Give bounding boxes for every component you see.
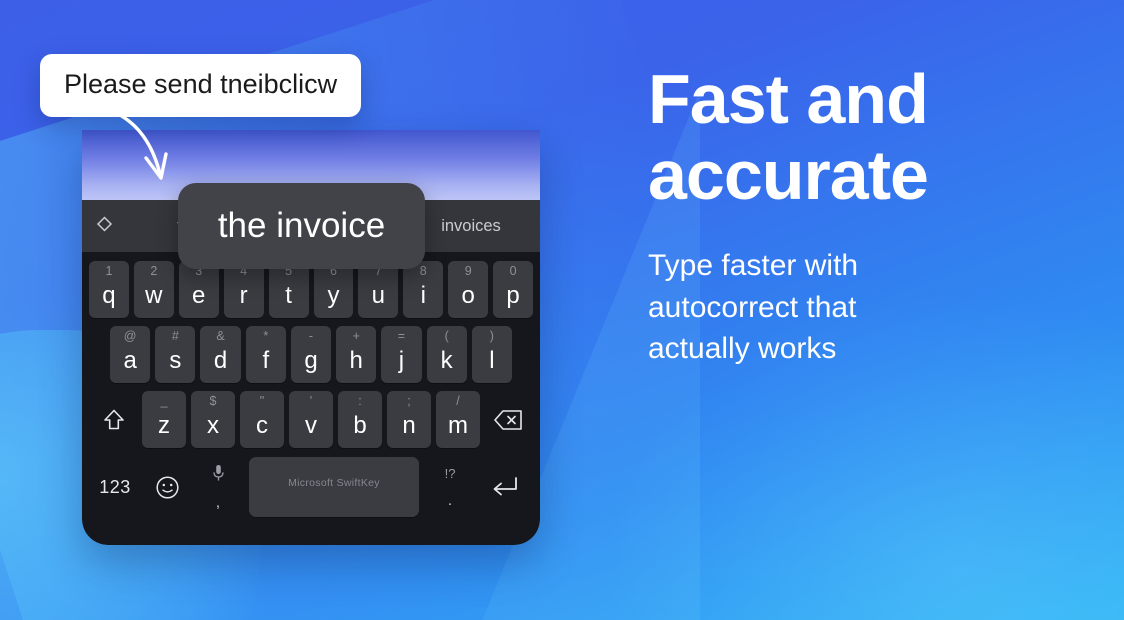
keyboard-row-3: _z $x "c 'v :b ;n /m [89,391,533,448]
key-v[interactable]: 'v [289,391,333,448]
punctuation-key[interactable]: !? . [425,457,475,517]
promo-banner: tneib invoice invoices 1q 2w 3e 4r 5t 6y… [0,0,1124,620]
punctuation-label: !? [445,467,456,480]
key-s[interactable]: #s [155,326,195,383]
page-title: Fast and accurate [648,62,1068,213]
microphone-icon [212,464,225,482]
keyboard-row-1: 1q 2w 3e 4r 5t 6y 7u 8i 9o 0p [89,261,533,318]
key-q[interactable]: 1q [89,261,129,318]
enter-return-icon[interactable] [475,457,533,517]
keyboard-row-4: 123 [89,457,533,517]
numeric-mode-key[interactable]: 123 [89,457,141,517]
key-alt-label: : [338,395,382,408]
key-k[interactable]: (k [427,326,467,383]
key-alt-label: ; [387,395,431,408]
key-a[interactable]: @a [110,326,150,383]
microphone-key[interactable]: , [193,457,243,517]
key-alt-label: / [436,395,480,408]
key-x[interactable]: $x [191,391,235,448]
key-f[interactable]: *f [246,326,286,383]
shift-arrow-up-icon[interactable] [91,391,137,448]
key-alt-label: ( [427,330,467,343]
comma-label: , [216,495,220,510]
key-n[interactable]: ;n [387,391,431,448]
key-alt-label: @ [110,330,150,343]
key-alt-label: - [291,330,331,343]
key-g[interactable]: -g [291,326,331,383]
key-alt-label: ) [472,330,512,343]
key-z[interactable]: _z [142,391,186,448]
spacebar-brand-label: Microsoft SwiftKey [288,477,380,489]
key-alt-label: # [155,330,195,343]
key-alt-label: 1 [89,265,129,278]
key-alt-label: 2 [134,265,174,278]
key-b[interactable]: :b [338,391,382,448]
key-y[interactable]: 6y [314,261,354,318]
key-c[interactable]: "c [240,391,284,448]
marketing-copy: Fast and accurate Type faster with autoc… [648,62,1068,369]
key-alt-label: " [240,395,284,408]
key-alt-label: ' [289,395,333,408]
key-alt-label: + [336,330,376,343]
period-label: . [448,493,452,508]
chevron-expand-icon[interactable] [82,216,126,237]
key-alt-label: 0 [493,265,533,278]
key-e[interactable]: 3e [179,261,219,318]
callout-bubble: Please send tneibclicw [40,54,361,117]
key-alt-label: & [200,330,240,343]
word-suggestion-tooltip[interactable]: the invoice [178,183,425,269]
key-alt-label: $ [191,395,235,408]
key-j[interactable]: =j [381,326,421,383]
key-o[interactable]: 9o [448,261,488,318]
key-m[interactable]: /m [436,391,480,448]
key-t[interactable]: 5t [269,261,309,318]
key-r[interactable]: 4r [224,261,264,318]
keyboard-row-2: @a #s &d *f -g +h =j (k )l [89,326,533,383]
key-d[interactable]: &d [200,326,240,383]
key-alt-label: 9 [448,265,488,278]
key-p[interactable]: 0p [493,261,533,318]
page-subtitle: Type faster with autocorrect that actual… [648,245,1068,369]
key-h[interactable]: +h [336,326,376,383]
key-u[interactable]: 7u [358,261,398,318]
backspace-delete-icon[interactable] [485,391,531,448]
smiley-face-icon[interactable] [141,457,193,517]
key-w[interactable]: 2w [134,261,174,318]
key-alt-label: = [381,330,421,343]
key-alt-label: _ [142,395,186,408]
spacebar-key[interactable]: Microsoft SwiftKey [249,457,419,517]
key-i[interactable]: 8i [403,261,443,318]
key-l[interactable]: )l [472,326,512,383]
curved-arrow-down-icon [108,108,198,198]
key-alt-label: * [246,330,286,343]
